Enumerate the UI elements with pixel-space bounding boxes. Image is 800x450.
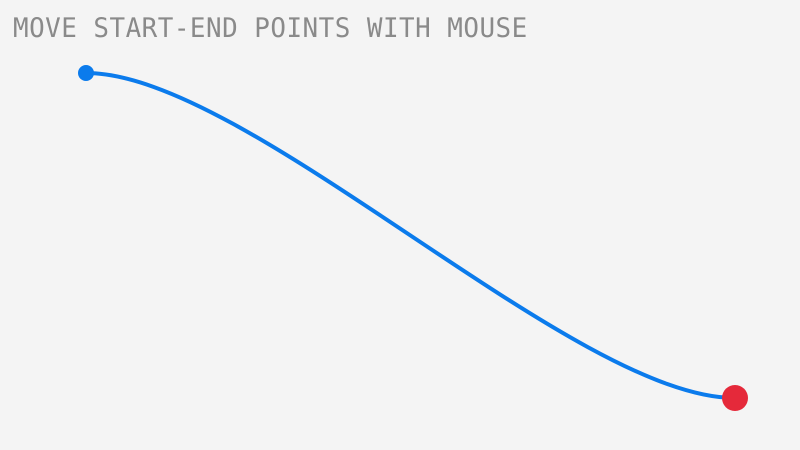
end-point-handle[interactable] <box>722 385 748 411</box>
canvas-stage[interactable]: MOVE START-END POINTS WITH MOUSE <box>0 0 800 450</box>
start-point-handle[interactable] <box>78 65 94 81</box>
canvas-background <box>0 0 800 450</box>
bezier-curve-canvas <box>0 0 800 450</box>
page-title: MOVE START-END POINTS WITH MOUSE <box>13 14 528 44</box>
